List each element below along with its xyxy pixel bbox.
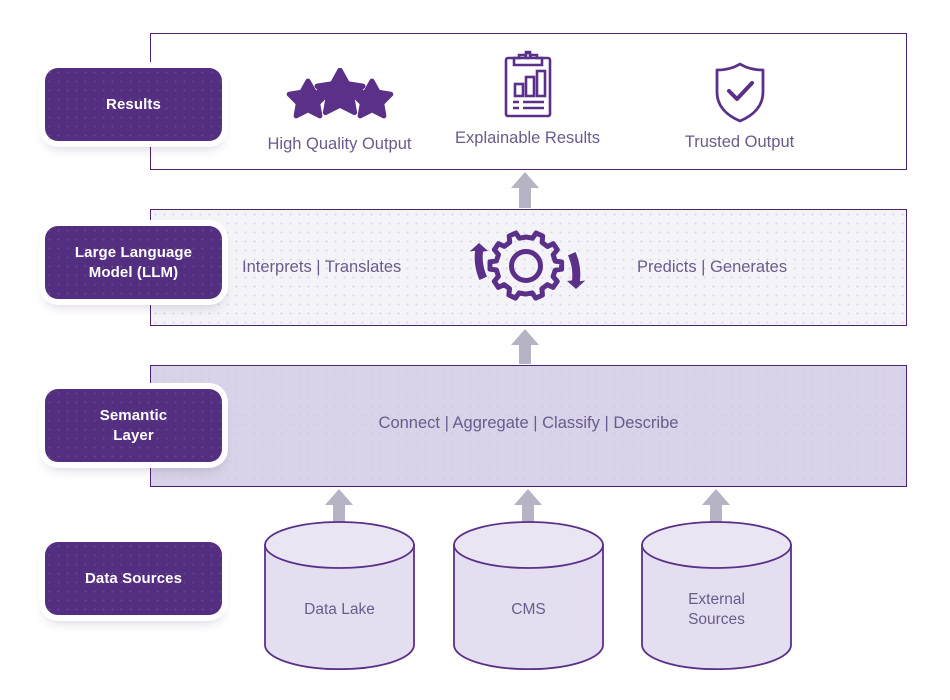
data-source-data-lake: Data Lake [262,520,417,670]
database-cylinder-icon [262,520,417,670]
shield-check-icon [637,56,842,124]
result-label-high-quality-output: High Quality Output [237,135,442,154]
badge-llm-label: Large Language Model (LLM) [75,243,192,281]
badge-results[interactable]: Results [45,68,222,141]
data-source-label-cms: CMS [451,600,606,620]
result-item-explainable-results: Explainable Results [425,52,630,148]
badge-large-language-model[interactable]: Large Language Model (LLM) [45,226,222,299]
result-item-high-quality-output: High Quality Output [237,58,442,154]
data-source-label-line1: External [639,590,794,610]
badge-semantic-layer[interactable]: Semantic Layer [45,389,222,462]
badge-llm-label-line1: Large Language [75,244,192,261]
badge-llm-label-line2: Model (LLM) [89,264,178,281]
result-label-trusted-output: Trusted Output [637,133,842,152]
badge-semantic-label-line1: Semantic [100,407,168,424]
gear-cycle-icon [455,227,600,310]
database-cylinder-icon [451,520,606,670]
badge-results-label: Results [106,95,161,114]
result-label-explainable-results: Explainable Results [425,129,630,148]
badge-semantic-label-line2: Layer [113,427,154,444]
data-source-label-line2: Sources [639,610,794,630]
badge-semantic-label: Semantic Layer [100,406,168,444]
data-source-cms: CMS [451,520,606,670]
badge-data-sources-label: Data Sources [85,569,182,588]
arrow-llm-to-results [508,170,542,210]
semantic-layer-text: Connect | Aggregate | Classify | Describ… [150,414,907,433]
llm-left-text: Interprets | Translates [242,258,401,277]
arrow-semantic-to-llm [508,327,542,366]
data-source-label-external-sources: External Sources [639,590,794,630]
data-source-label-data-lake: Data Lake [262,600,417,620]
clipboard-report-icon [425,52,630,120]
badge-data-sources[interactable]: Data Sources [45,542,222,615]
result-item-trusted-output: Trusted Output [637,56,842,152]
llm-right-text: Predicts | Generates [637,258,787,277]
three-stars-icon [237,58,442,126]
diagram-canvas: High Quality Output Explainable Results [0,0,950,700]
data-source-external-sources: External Sources [639,520,794,670]
